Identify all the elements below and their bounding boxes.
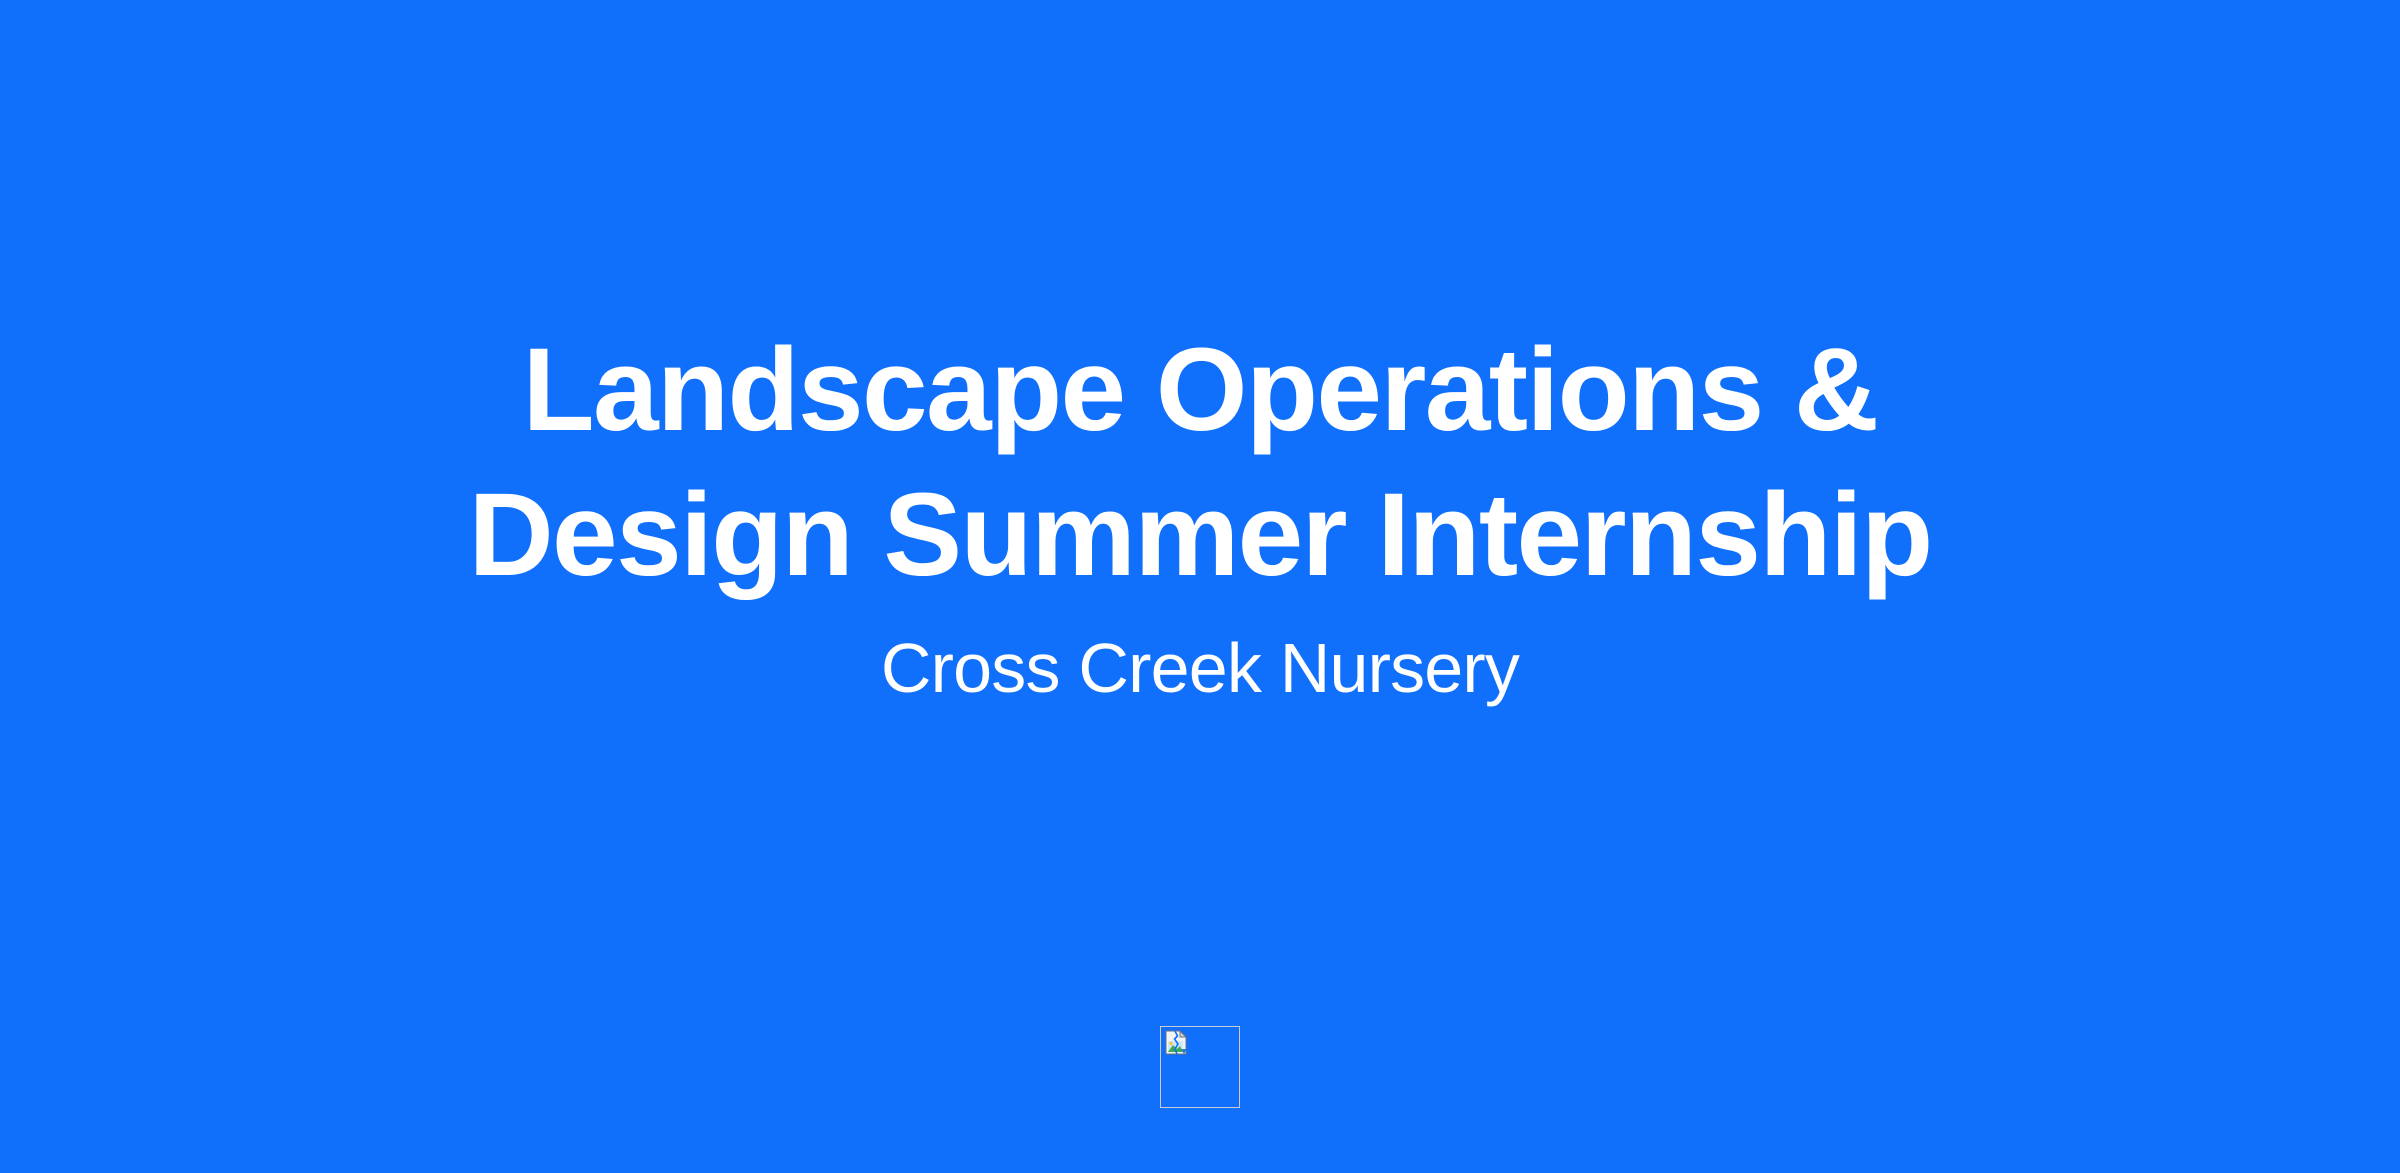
broken-image-placeholder[interactable] — [1160, 1026, 1240, 1108]
page-title-line-2: Design Summer Internship — [0, 463, 2400, 608]
media-slot — [1160, 1026, 1240, 1108]
title-slide: Landscape Operations & Design Summer Int… — [0, 0, 2400, 1173]
page-title: Landscape Operations & Design Summer Int… — [0, 318, 2400, 608]
page-title-line-1: Landscape Operations & — [0, 318, 2400, 463]
page-subtitle: Cross Creek Nursery — [0, 626, 2400, 710]
title-block: Landscape Operations & Design Summer Int… — [0, 318, 2400, 710]
broken-image-icon — [1164, 1030, 1190, 1056]
